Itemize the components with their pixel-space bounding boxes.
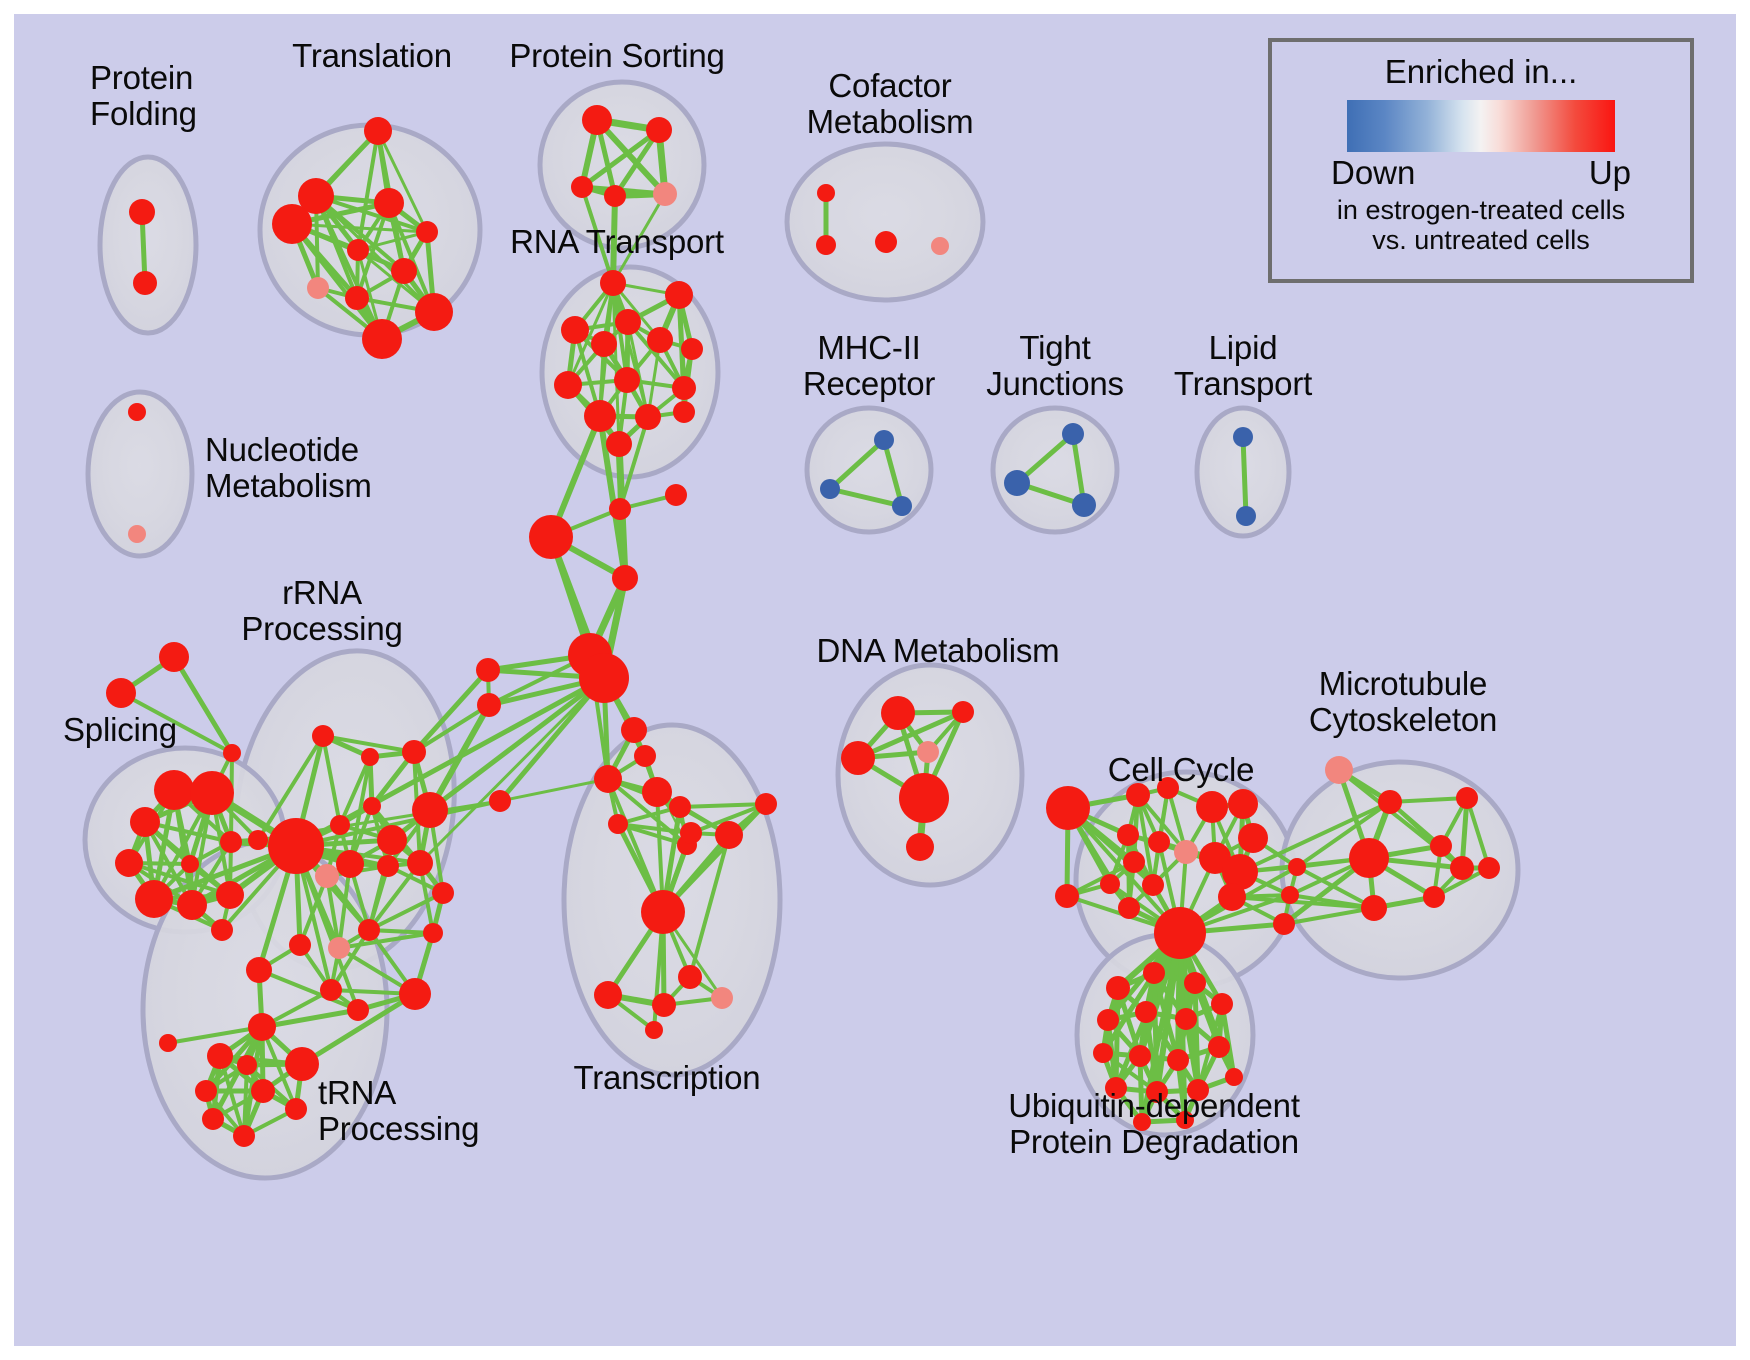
network-node[interactable] <box>1430 835 1452 857</box>
network-node[interactable] <box>609 498 631 520</box>
network-node[interactable] <box>608 814 628 834</box>
network-node[interactable] <box>432 882 454 904</box>
network-node[interactable] <box>1135 1001 1157 1023</box>
network-node[interactable] <box>1148 831 1170 853</box>
network-node[interactable] <box>594 981 622 1009</box>
network-node[interactable] <box>477 693 501 717</box>
network-node[interactable] <box>1288 858 1306 876</box>
cluster-label-trna-processing: tRNA Processing <box>318 1075 479 1148</box>
network-node[interactable] <box>289 934 311 956</box>
network-node[interactable] <box>128 525 146 543</box>
network-node[interactable] <box>272 204 312 244</box>
network-node[interactable] <box>755 793 777 815</box>
network-node[interactable] <box>1218 883 1246 911</box>
cluster-label-nucleotide-metab: Nucleotide Metabolism <box>205 432 372 505</box>
network-node[interactable] <box>415 293 453 331</box>
network-node[interactable] <box>202 1108 224 1130</box>
network-node[interactable] <box>246 957 272 983</box>
network-node[interactable] <box>1123 851 1145 873</box>
network-node[interactable] <box>1097 1009 1119 1031</box>
network-node[interactable] <box>906 833 934 861</box>
network-node[interactable] <box>1004 470 1030 496</box>
network-node[interactable] <box>285 1047 319 1081</box>
cluster-label-microtubule: Microtubule Cytoskeleton <box>1309 666 1497 739</box>
network-node[interactable] <box>233 1125 255 1147</box>
network-node[interactable] <box>377 855 399 877</box>
network-node[interactable] <box>1117 824 1139 846</box>
network-node[interactable] <box>634 745 656 767</box>
network-node[interactable] <box>820 479 840 499</box>
figure-canvas: Protein FoldingTranslationProtein Sortin… <box>0 0 1750 1360</box>
network-node[interactable] <box>190 771 234 815</box>
network-node[interactable] <box>130 807 160 837</box>
network-node[interactable] <box>154 770 194 810</box>
network-node[interactable] <box>892 496 912 516</box>
network-node[interactable] <box>307 277 329 299</box>
network-node[interactable] <box>917 741 939 763</box>
network-node[interactable] <box>665 484 687 506</box>
network-node[interactable] <box>358 919 380 941</box>
network-node[interactable] <box>336 850 364 878</box>
network-node[interactable] <box>881 696 915 730</box>
network-node[interactable] <box>345 286 369 310</box>
network-node[interactable] <box>715 821 743 849</box>
network-node[interactable] <box>374 188 404 218</box>
network-node[interactable] <box>347 239 369 261</box>
network-node[interactable] <box>211 919 233 941</box>
network-node[interactable] <box>489 790 511 812</box>
cluster-label-rrna-processing: rRNA Processing <box>241 575 402 648</box>
network-node[interactable] <box>362 319 402 359</box>
network-node[interactable] <box>1100 874 1120 894</box>
network-node[interactable] <box>361 748 379 766</box>
network-node[interactable] <box>579 653 629 703</box>
network-node[interactable] <box>1046 786 1090 830</box>
network-node[interactable] <box>177 890 207 920</box>
network-node[interactable] <box>606 431 632 457</box>
network-node[interactable] <box>621 717 647 743</box>
network-node[interactable] <box>1236 506 1256 526</box>
network-node[interactable] <box>268 818 324 874</box>
network-node[interactable] <box>641 890 685 934</box>
network-node[interactable] <box>1228 789 1258 819</box>
network-node[interactable] <box>416 221 438 243</box>
network-node[interactable] <box>841 741 875 775</box>
network-node[interactable] <box>402 740 426 764</box>
network-node[interactable] <box>377 825 407 855</box>
network-node[interactable] <box>646 117 672 143</box>
network-node[interactable] <box>1072 493 1096 517</box>
cluster-label-lipid-transport: Lipid Transport <box>1174 330 1312 403</box>
cluster-label-tight-junctions: Tight Junctions <box>986 330 1124 403</box>
network-node[interactable] <box>399 978 431 1010</box>
network-node[interactable] <box>653 182 677 206</box>
cluster-label-cofactor-metab: Cofactor Metabolism <box>807 68 974 141</box>
network-node[interactable] <box>681 338 703 360</box>
network-node[interactable] <box>1143 962 1165 984</box>
network-node[interactable] <box>159 642 189 672</box>
network-node[interactable] <box>665 281 693 309</box>
network-node[interactable] <box>1142 874 1164 896</box>
network-node[interactable] <box>223 744 241 762</box>
network-node[interactable] <box>1196 791 1228 823</box>
network-node[interactable] <box>672 376 696 400</box>
network-node[interactable] <box>1055 884 1079 908</box>
network-node[interactable] <box>1238 823 1268 853</box>
cluster-label-protein-folding: Protein Folding <box>90 60 197 133</box>
network-node[interactable] <box>207 1043 233 1069</box>
network-node[interactable] <box>875 231 897 253</box>
network-node[interactable] <box>614 367 640 393</box>
network-node[interactable] <box>931 237 949 255</box>
legend-color-scale <box>1347 100 1615 152</box>
network-node[interactable] <box>1184 972 1206 994</box>
network-node[interactable] <box>407 850 433 876</box>
network-node[interactable] <box>669 796 691 818</box>
network-node[interactable] <box>330 815 350 835</box>
cluster-label-cell-cycle: Cell Cycle <box>1108 752 1255 788</box>
network-node[interactable] <box>135 880 173 918</box>
network-node[interactable] <box>1361 895 1387 921</box>
network-node[interactable] <box>1225 1068 1243 1086</box>
cluster-label-mhc-ii-receptor: MHC-II Receptor <box>803 330 935 403</box>
network-node[interactable] <box>128 403 146 421</box>
network-node[interactable] <box>561 316 589 344</box>
legend-endpoint-labels: Down Up <box>1331 154 1631 192</box>
network-node[interactable] <box>816 235 836 255</box>
network-node[interactable] <box>285 1098 307 1120</box>
network-node[interactable] <box>1478 857 1500 879</box>
network-node[interactable] <box>1378 790 1402 814</box>
cluster-ellipse <box>993 408 1117 532</box>
network-edge <box>1243 437 1246 516</box>
network-node[interactable] <box>1174 840 1198 864</box>
legend-high-label: Up <box>1589 154 1631 192</box>
network-node[interactable] <box>582 105 612 135</box>
network-node[interactable] <box>328 937 350 959</box>
network-node[interactable] <box>129 199 155 225</box>
network-node[interactable] <box>1281 886 1299 904</box>
network-node[interactable] <box>315 864 339 888</box>
network-node[interactable] <box>320 979 342 1001</box>
network-node[interactable] <box>181 855 199 873</box>
network-node[interactable] <box>391 258 417 284</box>
network-node[interactable] <box>571 176 593 198</box>
network-node[interactable] <box>423 923 443 943</box>
legend-subtitle-line-1: in estrogen-treated cells <box>1337 195 1625 225</box>
network-node[interactable] <box>1273 913 1295 935</box>
network-node[interactable] <box>1129 1045 1151 1067</box>
legend-low-label: Down <box>1331 154 1415 192</box>
network-node[interactable] <box>216 881 244 909</box>
network-node[interactable] <box>1211 993 1233 1015</box>
network-node[interactable] <box>635 404 661 430</box>
network-node[interactable] <box>363 797 381 815</box>
cluster-label-translation: Translation <box>292 38 452 74</box>
network-node[interactable] <box>591 331 617 357</box>
network-node[interactable] <box>874 430 894 450</box>
network-node[interactable] <box>347 999 369 1021</box>
network-node[interactable] <box>817 184 835 202</box>
network-node[interactable] <box>476 658 500 682</box>
cluster-label-ubiquitin: Ubiquitin-dependent Protein Degradation <box>1008 1088 1300 1161</box>
network-node[interactable] <box>952 701 974 723</box>
network-node[interactable] <box>115 849 143 877</box>
network-node[interactable] <box>1175 1008 1197 1030</box>
network-node[interactable] <box>1208 1036 1230 1058</box>
cluster-label-protein-sorting: Protein Sorting <box>509 38 724 74</box>
network-node[interactable] <box>584 400 616 432</box>
cluster-label-rna-transport: RNA Transport <box>510 224 724 260</box>
network-node[interactable] <box>1349 838 1389 878</box>
cluster-label-dna-metabolism: DNA Metabolism <box>817 633 1060 669</box>
legend-title: Enriched in... <box>1385 53 1578 91</box>
legend-panel: Enriched in... Down Up in estrogen-treat… <box>1268 38 1694 283</box>
network-node[interactable] <box>1233 427 1253 447</box>
network-node[interactable] <box>680 822 702 844</box>
network-node[interactable] <box>642 777 672 807</box>
network-node[interactable] <box>899 773 949 823</box>
network-node[interactable] <box>529 515 573 559</box>
network-node[interactable] <box>554 371 582 399</box>
network-node[interactable] <box>1093 1043 1113 1063</box>
network-node[interactable] <box>600 270 626 296</box>
network-node[interactable] <box>195 1080 217 1102</box>
network-node[interactable] <box>251 1079 275 1103</box>
cluster-ellipse <box>787 144 983 300</box>
network-node[interactable] <box>1106 976 1130 1000</box>
network-node[interactable] <box>673 401 695 423</box>
network-node[interactable] <box>612 565 638 591</box>
network-node[interactable] <box>1423 886 1445 908</box>
network-node[interactable] <box>711 987 733 1009</box>
network-node[interactable] <box>1062 423 1084 445</box>
network-node[interactable] <box>159 1034 177 1052</box>
network-node[interactable] <box>1325 756 1353 784</box>
network-node[interactable] <box>604 185 626 207</box>
network-node[interactable] <box>1456 787 1478 809</box>
network-node[interactable] <box>594 765 622 793</box>
network-node[interactable] <box>678 965 702 989</box>
network-node[interactable] <box>312 725 334 747</box>
cluster-label-splicing: Splicing <box>63 712 177 748</box>
network-node[interactable] <box>106 678 136 708</box>
network-node[interactable] <box>248 830 268 850</box>
network-node[interactable] <box>220 831 242 853</box>
cluster-ellipse <box>807 408 931 532</box>
network-node[interactable] <box>652 993 676 1017</box>
network-node[interactable] <box>364 117 392 145</box>
network-node[interactable] <box>248 1013 276 1041</box>
network-node[interactable] <box>1450 856 1474 880</box>
network-node[interactable] <box>615 309 641 335</box>
network-node[interactable] <box>1167 1049 1189 1071</box>
network-node[interactable] <box>1154 907 1206 959</box>
network-node[interactable] <box>237 1055 257 1075</box>
network-node[interactable] <box>133 271 157 295</box>
network-node[interactable] <box>412 792 448 828</box>
cluster-label-transcription: Transcription <box>574 1060 761 1096</box>
legend-subtitle-line-2: vs. untreated cells <box>1372 225 1590 255</box>
network-node[interactable] <box>647 327 673 353</box>
network-node[interactable] <box>1118 897 1140 919</box>
cluster-ellipse <box>100 157 196 333</box>
network-node[interactable] <box>645 1021 663 1039</box>
